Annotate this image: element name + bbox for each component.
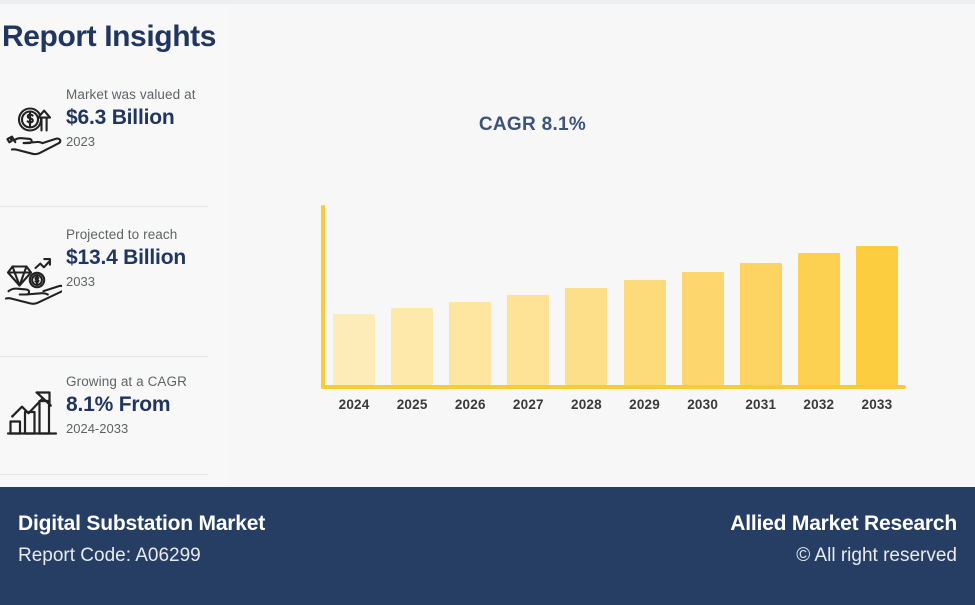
x-axis-line — [321, 385, 906, 389]
bar-2032 — [798, 253, 840, 385]
bar-2030 — [682, 272, 724, 385]
insight-period: 2033 — [66, 273, 228, 290]
bar-2033 — [856, 246, 898, 385]
x-label-2024: 2024 — [328, 397, 380, 412]
hand-coin-arrow-icon — [4, 100, 62, 158]
x-label-2028: 2028 — [560, 397, 612, 412]
footer-report-info: Digital Substation Market Report Code: A… — [18, 512, 265, 567]
x-label-2026: 2026 — [444, 397, 496, 412]
x-label-2029: 2029 — [619, 397, 671, 412]
footer-report-name: Digital Substation Market — [18, 512, 265, 536]
footer-company-name: Allied Market Research — [730, 512, 957, 536]
x-label-2025: 2025 — [386, 397, 438, 412]
forecast-chart-panel: CAGR 8.1% 202420252026202720282029203020… — [228, 4, 975, 487]
x-label-2031: 2031 — [735, 397, 787, 412]
bar-chart-arrow-icon — [4, 383, 62, 441]
bar-2025 — [391, 308, 433, 385]
x-label-2032: 2032 — [793, 397, 845, 412]
footer-bar: Digital Substation Market Report Code: A… — [0, 487, 975, 605]
x-label-2030: 2030 — [677, 397, 729, 412]
insight-label: Projected to reach — [66, 226, 228, 243]
footer-copyright: © All right reserved — [730, 545, 957, 567]
insight-period: 2023 — [66, 133, 228, 150]
footer-report-code: Report Code: A06299 — [18, 545, 265, 567]
chart-plot-area — [321, 205, 906, 389]
bar-series — [325, 205, 906, 385]
x-axis-labels: 2024202520262027202820292030203120322033 — [321, 397, 906, 419]
insight-value: $6.3 Billion — [66, 105, 228, 131]
insights-divider-1 — [0, 206, 208, 207]
bar-2031 — [740, 263, 782, 385]
insight-label: Growing at a CAGR — [66, 373, 228, 390]
insights-divider-3 — [0, 474, 208, 475]
insight-label: Market was valued at — [66, 86, 228, 103]
x-label-2033: 2033 — [851, 397, 903, 412]
bar-2029 — [624, 280, 666, 385]
bar-2028 — [565, 288, 607, 385]
bar-2024 — [333, 314, 375, 385]
report-insights-infographic: Report Insights — [0, 0, 975, 605]
insight-text-cagr: Growing at a CAGR 8.1% From 2024-2033 — [66, 373, 228, 437]
x-label-2027: 2027 — [502, 397, 554, 412]
insight-text-market-value: Market was valued at $6.3 Billion 2023 — [66, 86, 228, 150]
insight-card-market-value: Market was valued at $6.3 Billion 2023 — [0, 86, 228, 196]
insight-period: 2024-2033 — [66, 420, 228, 437]
insight-card-projection: Projected to reach $13.4 Billion 2033 — [0, 226, 228, 346]
bar-2027 — [507, 295, 549, 385]
footer-company-info: Allied Market Research © All right reser… — [730, 512, 957, 567]
page-title: Report Insights — [2, 20, 216, 54]
bar-2026 — [449, 302, 491, 385]
insight-value: $13.4 Billion — [66, 245, 228, 271]
insights-divider-2 — [0, 356, 208, 357]
insight-card-cagr: Growing at a CAGR 8.1% From 2024-2033 — [0, 373, 228, 473]
hand-diamond-growth-icon — [4, 250, 62, 308]
insight-text-projection: Projected to reach $13.4 Billion 2033 — [66, 226, 228, 290]
chart-title: CAGR 8.1% — [228, 114, 975, 136]
insights-panel: Report Insights — [0, 4, 228, 487]
insight-value: 8.1% From — [66, 392, 228, 418]
